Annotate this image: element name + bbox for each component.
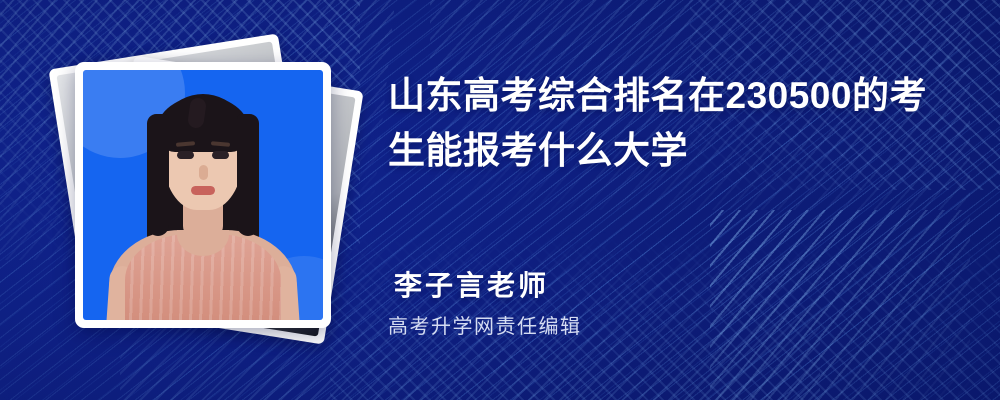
- portrait-hair-side-left: [147, 114, 169, 236]
- portrait-nose: [199, 165, 208, 180]
- author-role: 高考升学网责任编辑: [388, 314, 954, 340]
- portrait-lips: [191, 186, 215, 195]
- article-title: 山东高考综合排名在230500的考生能报考什么大学: [388, 68, 960, 178]
- portrait-illustration: [83, 70, 323, 320]
- banner-text-block: 山东高考综合排名在230500的考生能报考什么大学 李子言老师 高考升学网责任编…: [388, 0, 978, 400]
- author-photo-frame: [75, 62, 331, 328]
- portrait-eye-right: [212, 151, 229, 159]
- author-byline: 李子言老师 高考升学网责任编辑: [394, 268, 954, 340]
- portrait-hair-side-right: [237, 114, 259, 236]
- article-header-banner: 山东高考综合排名在230500的考生能报考什么大学 李子言老师 高考升学网责任编…: [0, 0, 1000, 400]
- author-photo: [83, 70, 323, 320]
- portrait-eye-left: [177, 151, 194, 159]
- author-photo-cluster: [55, 38, 355, 358]
- author-name: 李子言老师: [394, 268, 954, 304]
